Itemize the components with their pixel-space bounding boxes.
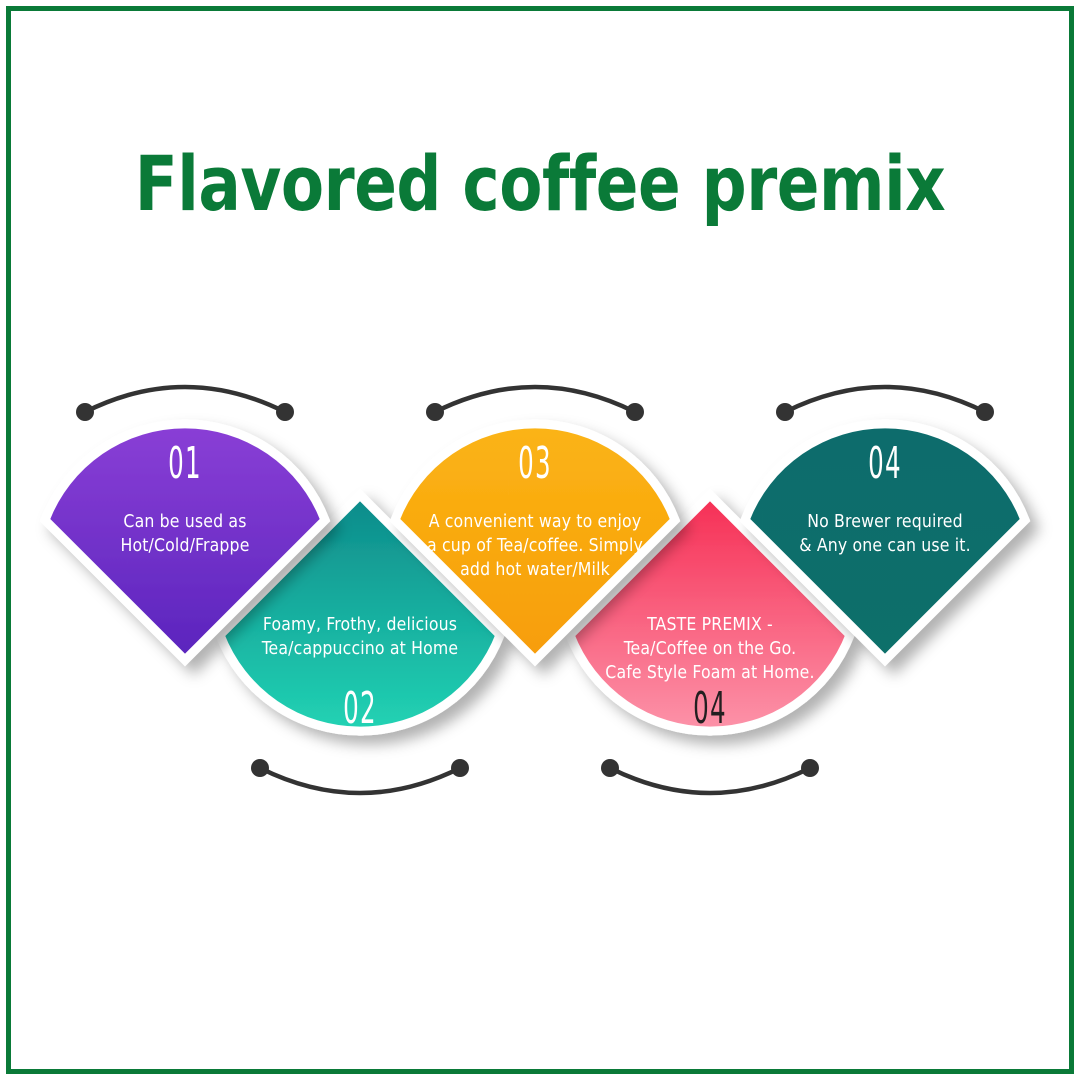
step-card-01[interactable]: 01 Can be used as Hot/Cold/Frappe: [35, 400, 335, 680]
step-card-03[interactable]: 03 A convenient way to enjoy a cup of Te…: [385, 400, 685, 680]
step-shape-03: [357, 372, 713, 708]
step-shape-04-teal: [707, 372, 1063, 708]
diagram-stage: Foamy, Frothy, delicious Tea/cappuccino …: [0, 0, 1080, 1080]
step-shape-01: [7, 372, 363, 708]
step-card-04-teal[interactable]: 04 No Brewer required & Any one can use …: [735, 400, 1035, 680]
infographic-canvas: Flavored coffee premix: [0, 0, 1080, 1080]
